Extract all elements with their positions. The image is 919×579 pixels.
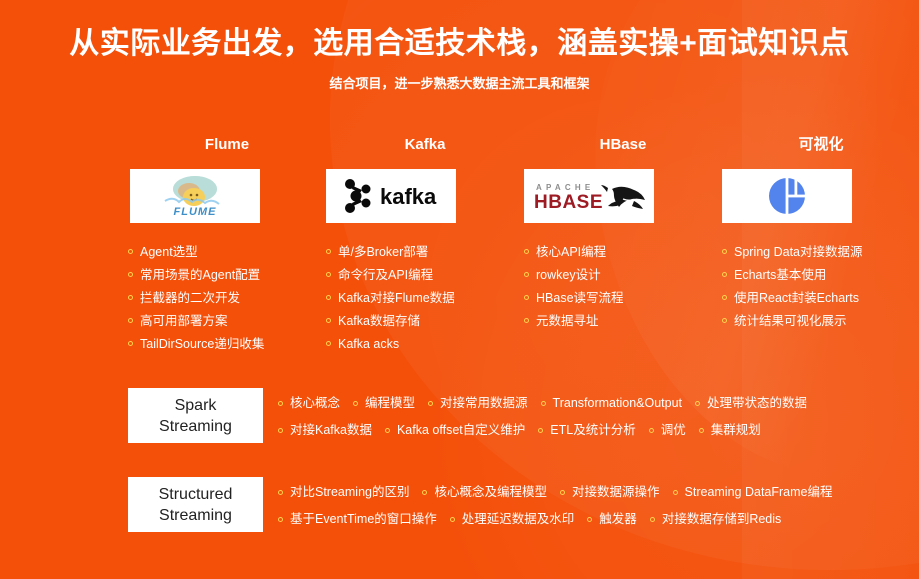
topic-list-visualization: Spring Data对接数据源 Echarts基本使用 使用React封装Ec…: [722, 241, 919, 333]
topic-chip: 处理带状态的数据: [695, 390, 807, 417]
topic-line: 基于EventTime的窗口操作 处理延迟数据及水印 触发器 对接数据存储到Re…: [278, 506, 845, 533]
bullet-icon: [587, 517, 592, 522]
topic-label: 核心概念: [290, 396, 340, 410]
kafka-logo-card: kafka: [326, 169, 456, 223]
topic-list-hbase: 核心API编程 rowkey设计 HBase读写流程 元数据寻址: [524, 241, 722, 333]
topic-label: Kafka对接Flume数据: [338, 291, 455, 305]
spark-streaming-topics: 核心概念 编程模型 对接常用数据源 Transformation&Output …: [278, 388, 820, 444]
spark-streaming-row: Spark Streaming 核心概念 编程模型 对接常用数据源 Transf…: [128, 388, 820, 444]
topic-label: 拦截器的二次开发: [140, 291, 240, 305]
structured-streaming-card-line1: Structured: [159, 484, 233, 505]
column-title-visualization: 可视化: [722, 134, 919, 156]
topic-label: 统计结果可视化展示: [734, 314, 847, 328]
topic-label: 核心API编程: [536, 245, 606, 259]
bullet-icon: [560, 490, 565, 495]
bullet-icon: [278, 517, 283, 522]
topic-label: 元数据寻址: [536, 314, 599, 328]
list-item: 单/多Broker部署: [326, 241, 524, 264]
bullet-icon: [128, 249, 133, 254]
topic-label: 处理延迟数据及水印: [462, 512, 575, 526]
bullet-icon: [673, 490, 678, 495]
topic-chip: 对比Streaming的区别: [278, 479, 409, 506]
topic-label: Spring Data对接数据源: [734, 245, 863, 259]
page-subtitle: 结合项目，进一步熟悉大数据主流工具和框架: [0, 74, 919, 94]
topic-chip: 核心概念: [278, 390, 340, 417]
topic-label: 对接数据源操作: [572, 485, 660, 499]
bullet-icon: [722, 249, 727, 254]
list-item: Kafka对接Flume数据: [326, 287, 524, 310]
hbase-logo: APACHE HBASE: [530, 175, 648, 217]
bullet-icon: [326, 272, 331, 277]
topic-label: 调优: [661, 423, 686, 437]
topic-line: 对接Kafka数据 Kafka offset自定义维护 ETL及统计分析 调优 …: [278, 417, 820, 444]
list-item: rowkey设计: [524, 264, 722, 287]
bullet-icon: [722, 295, 727, 300]
bullet-icon: [650, 517, 655, 522]
topic-chip: ETL及统计分析: [538, 417, 635, 444]
topic-chip: 处理延迟数据及水印: [450, 506, 575, 533]
bullet-icon: [128, 272, 133, 277]
column-title-hbase: HBase: [524, 134, 722, 156]
topic-label: ETL及统计分析: [550, 423, 635, 437]
topic-label: 触发器: [599, 512, 637, 526]
bullet-icon: [278, 428, 283, 433]
svg-text:HBASE: HBASE: [534, 192, 603, 213]
topic-label: 对接Kafka数据: [290, 423, 372, 437]
topic-label: 集群规划: [711, 423, 761, 437]
topic-chip: Transformation&Output: [541, 390, 682, 417]
topic-label: Kafka offset自定义维护: [397, 423, 525, 437]
topic-chip: 对接Kafka数据: [278, 417, 372, 444]
topic-label: 对接数据存储到Redis: [662, 512, 781, 526]
topic-label: Kafka数据存储: [338, 314, 420, 328]
spark-streaming-card: Spark Streaming: [128, 388, 263, 443]
topic-list-kafka: 单/多Broker部署 命令行及API编程 Kafka对接Flume数据 Kaf…: [326, 241, 524, 356]
topic-chip: 触发器: [587, 506, 637, 533]
topic-label: 对比Streaming的区别: [290, 485, 409, 499]
structured-streaming-row: Structured Streaming 对比Streaming的区别 核心概念…: [128, 477, 845, 533]
bullet-icon: [524, 249, 529, 254]
bullet-icon: [450, 517, 455, 522]
bullet-icon: [538, 428, 543, 433]
topic-label: 对接常用数据源: [440, 396, 528, 410]
column-kafka: Kafka kafka 单/多Broker部署: [326, 134, 524, 356]
topic-label: 核心概念及编程模型: [434, 485, 547, 499]
topic-chip: 基于EventTime的窗口操作: [278, 506, 437, 533]
topic-label: 编程模型: [365, 396, 415, 410]
list-item: Echarts基本使用: [722, 264, 919, 287]
svg-text:kafka: kafka: [380, 184, 437, 209]
column-visualization: 可视化 Spring Data对接数据源 Echarts基本使用 使用React…: [722, 134, 919, 356]
topic-label: 常用场景的Agent配置: [140, 268, 260, 282]
kafka-logo: kafka: [336, 176, 446, 216]
column-title-flume: Flume: [128, 134, 326, 156]
bullet-icon: [422, 490, 427, 495]
list-item: 常用场景的Agent配置: [128, 264, 326, 287]
topic-label: Agent选型: [140, 245, 198, 259]
topic-label: 单/多Broker部署: [338, 245, 428, 259]
list-item: 统计结果可视化展示: [722, 310, 919, 333]
bullet-icon: [278, 490, 283, 495]
topic-chip: 对接常用数据源: [428, 390, 528, 417]
column-flume: Flume FLUME Agent选型 常用场景的Agent配置 拦截器的二次: [128, 134, 326, 356]
structured-streaming-topics: 对比Streaming的区别 核心概念及编程模型 对接数据源操作 Streami…: [278, 477, 845, 533]
topic-label: 高可用部署方案: [140, 314, 228, 328]
bullet-icon: [353, 401, 358, 406]
svg-text:APACHE: APACHE: [536, 183, 594, 192]
list-item: 使用React封装Echarts: [722, 287, 919, 310]
list-item: Spring Data对接数据源: [722, 241, 919, 264]
flume-logo-card: FLUME: [130, 169, 260, 223]
list-item: 核心API编程: [524, 241, 722, 264]
bullet-icon: [722, 318, 727, 323]
topic-list-flume: Agent选型 常用场景的Agent配置 拦截器的二次开发 高可用部署方案 Ta…: [128, 241, 326, 356]
list-item: 拦截器的二次开发: [128, 287, 326, 310]
hbase-logo-card: APACHE HBASE: [524, 169, 654, 223]
topic-label: Kafka acks: [338, 337, 399, 351]
page-title: 从实际业务出发，选用合适技术栈，涵盖实操+面试知识点: [0, 24, 919, 64]
topic-label: 使用React封装Echarts: [734, 291, 859, 305]
topic-chip: 调优: [649, 417, 686, 444]
list-item: 元数据寻址: [524, 310, 722, 333]
list-item: 命令行及API编程: [326, 264, 524, 287]
bullet-icon: [326, 318, 331, 323]
spark-streaming-card-line1: Spark: [175, 395, 217, 416]
topic-label: Echarts基本使用: [734, 268, 826, 282]
structured-streaming-card: Structured Streaming: [128, 477, 263, 532]
bullet-icon: [326, 249, 331, 254]
bullet-icon: [428, 401, 433, 406]
bullet-icon: [649, 428, 654, 433]
topic-label: Streaming DataFrame编程: [685, 485, 833, 499]
topic-label: TailDirSource递归收集: [140, 337, 264, 351]
topic-chip: Streaming DataFrame编程: [673, 479, 833, 506]
topic-chip: 对接数据源操作: [560, 479, 660, 506]
echarts-logo: [764, 173, 810, 219]
topic-label: 处理带状态的数据: [707, 396, 807, 410]
bullet-icon: [326, 295, 331, 300]
spark-streaming-card-line2: Streaming: [159, 416, 232, 437]
topic-label: 基于EventTime的窗口操作: [290, 512, 437, 526]
topic-chip: 对接数据存储到Redis: [650, 506, 781, 533]
topic-chip: 核心概念及编程模型: [422, 479, 547, 506]
topic-label: HBase读写流程: [536, 291, 624, 305]
bullet-icon: [524, 318, 529, 323]
list-item: 高可用部署方案: [128, 310, 326, 333]
column-title-kafka: Kafka: [326, 134, 524, 156]
topic-label: rowkey设计: [536, 268, 601, 282]
topic-chip: 编程模型: [353, 390, 415, 417]
list-item: Kafka数据存储: [326, 310, 524, 333]
topic-line: 核心概念 编程模型 对接常用数据源 Transformation&Output …: [278, 390, 820, 417]
bullet-icon: [385, 428, 390, 433]
topic-chip: Kafka offset自定义维护: [385, 417, 525, 444]
bullet-icon: [326, 341, 331, 346]
column-hbase: HBase APACHE HBASE 核心API编程 rowkey设计: [524, 134, 722, 356]
flume-logo: FLUME: [147, 174, 243, 218]
bullet-icon: [524, 272, 529, 277]
bullet-icon: [695, 401, 700, 406]
bullet-icon: [699, 428, 704, 433]
bullet-icon: [722, 272, 727, 277]
bullet-icon: [128, 318, 133, 323]
list-item: HBase读写流程: [524, 287, 722, 310]
topic-label: 命令行及API编程: [338, 268, 433, 282]
topic-label: Transformation&Output: [553, 396, 682, 410]
bullet-icon: [128, 295, 133, 300]
slide-canvas: 从实际业务出发，选用合适技术栈，涵盖实操+面试知识点 结合项目，进一步熟悉大数据…: [0, 0, 919, 579]
echarts-logo-card: [722, 169, 852, 223]
svg-text:FLUME: FLUME: [174, 206, 217, 218]
list-item: Agent选型: [128, 241, 326, 264]
topic-line: 对比Streaming的区别 核心概念及编程模型 对接数据源操作 Streami…: [278, 479, 845, 506]
technology-columns: Flume FLUME Agent选型 常用场景的Agent配置 拦截器的二次: [128, 134, 918, 356]
bullet-icon: [128, 341, 133, 346]
list-item: Kafka acks: [326, 333, 524, 356]
bullet-icon: [524, 295, 529, 300]
topic-chip: 集群规划: [699, 417, 761, 444]
list-item: TailDirSource递归收集: [128, 333, 326, 356]
bullet-icon: [278, 401, 283, 406]
bullet-icon: [541, 401, 546, 406]
structured-streaming-card-line2: Streaming: [159, 505, 232, 526]
